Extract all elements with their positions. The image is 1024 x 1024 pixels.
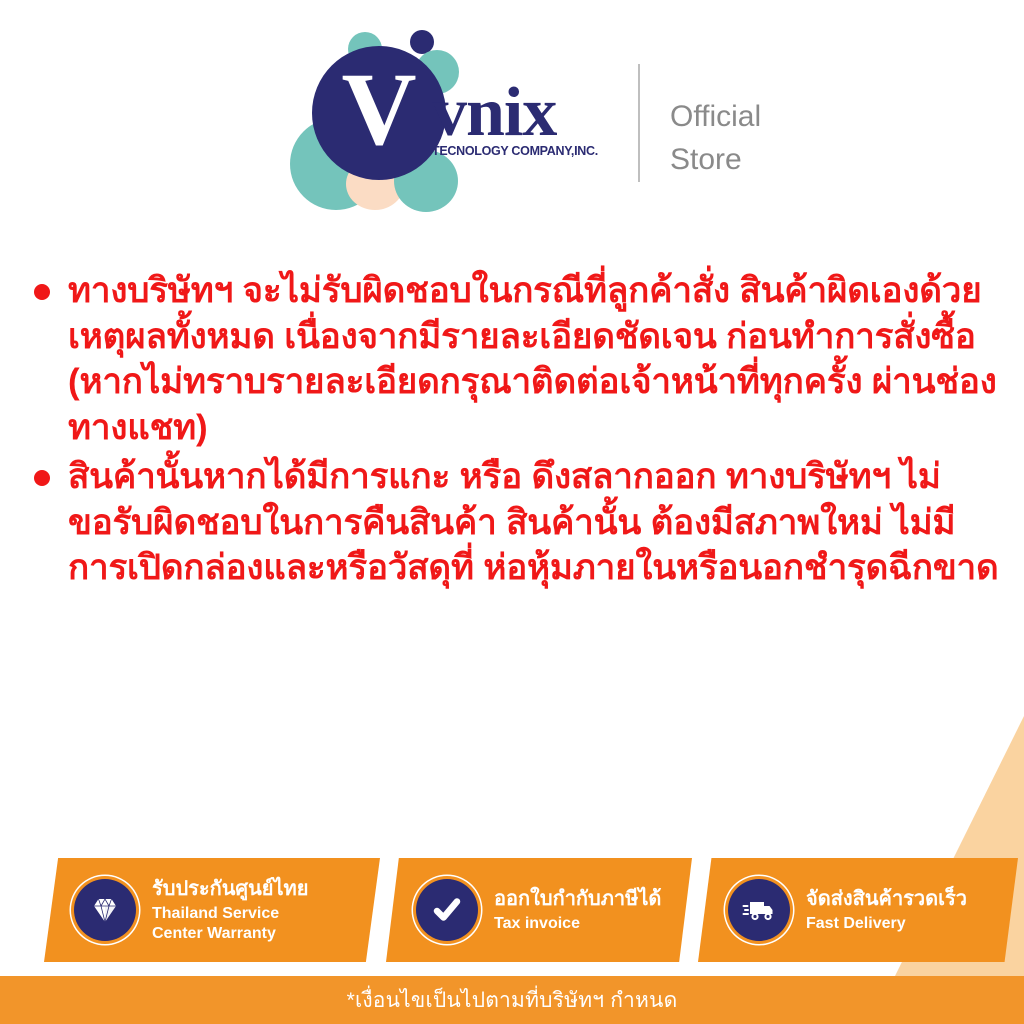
- terms-list: ทางบริษัทฯ จะไม่รับผิดชอบในกรณีที่ลูกค้า…: [26, 268, 1006, 595]
- check-icon: [416, 879, 478, 941]
- badge-thailand-service-warranty: รับประกันศูนย์ไทย Thailand Service Cente…: [44, 858, 380, 962]
- badge-fast-delivery: จัดส่งสินค้ารวดเร็ว Fast Delivery: [698, 858, 1018, 962]
- badge-title-th: ออกใบกำกับภาษีได้: [494, 887, 692, 912]
- badge-title-th: รับประกันศูนย์ไทย: [152, 877, 380, 902]
- badge-title-th: จัดส่งสินค้ารวดเร็ว: [806, 887, 1018, 912]
- footer-note: *เงื่อนไขเป็นไปตามที่บริษัทฯ กำหนด: [347, 984, 678, 1017]
- badge-title-en-line2: Center Warranty: [152, 924, 380, 944]
- badge-tax-invoice: ออกใบกำกับภาษีได้ Tax invoice: [386, 858, 692, 962]
- badge-text-group: ออกใบกำกับภาษีได้ Tax invoice: [494, 887, 692, 934]
- official-store-line2: Store: [670, 139, 761, 182]
- promo-banner-page: V vnix TECNOLOGY COMPANY,INC. Official S…: [0, 0, 1024, 1024]
- header: V vnix TECNOLOGY COMPANY,INC. Official S…: [0, 0, 1024, 225]
- official-store-line1: Official: [670, 96, 761, 139]
- terms-bullet-item: ทางบริษัทฯ จะไม่รับผิดชอบในกรณีที่ลูกค้า…: [26, 268, 1006, 450]
- bullet-dot-icon: [34, 470, 50, 486]
- badge-text-group: รับประกันศูนย์ไทย Thailand Service Cente…: [152, 877, 380, 944]
- truck-icon: [728, 879, 790, 941]
- brand-logo: V vnix TECNOLOGY COMPANY,INC.: [262, 22, 632, 202]
- header-divider: [638, 64, 640, 182]
- footer-bar: *เงื่อนไขเป็นไปตามที่บริษัทฯ กำหนด: [0, 976, 1024, 1024]
- logo-wordmark: vnix: [432, 84, 632, 141]
- terms-bullet-text: สินค้านั้นหากได้มีการแกะ หรือ ดึงสลากออก…: [68, 454, 1006, 591]
- logo-wordmark-group: vnix TECNOLOGY COMPANY,INC.: [432, 84, 632, 158]
- official-store-label: Official Store: [670, 96, 761, 181]
- logo-letter-v: V: [312, 46, 446, 180]
- badge-title-en-line1: Tax invoice: [494, 914, 692, 934]
- badge-title-en-line1: Fast Delivery: [806, 914, 1018, 934]
- feature-badges: รับประกันศูนย์ไทย Thailand Service Cente…: [0, 858, 1024, 962]
- badge-text-group: จัดส่งสินค้ารวดเร็ว Fast Delivery: [806, 887, 1018, 934]
- bullet-dot-icon: [34, 284, 50, 300]
- diamond-icon: [74, 879, 136, 941]
- terms-bullet-text: ทางบริษัทฯ จะไม่รับผิดชอบในกรณีที่ลูกค้า…: [68, 268, 1006, 450]
- logo-tagline: TECNOLOGY COMPANY,INC.: [432, 144, 632, 158]
- terms-bullet-item: สินค้านั้นหากได้มีการแกะ หรือ ดึงสลากออก…: [26, 454, 1006, 591]
- badge-title-en-line1: Thailand Service: [152, 904, 380, 924]
